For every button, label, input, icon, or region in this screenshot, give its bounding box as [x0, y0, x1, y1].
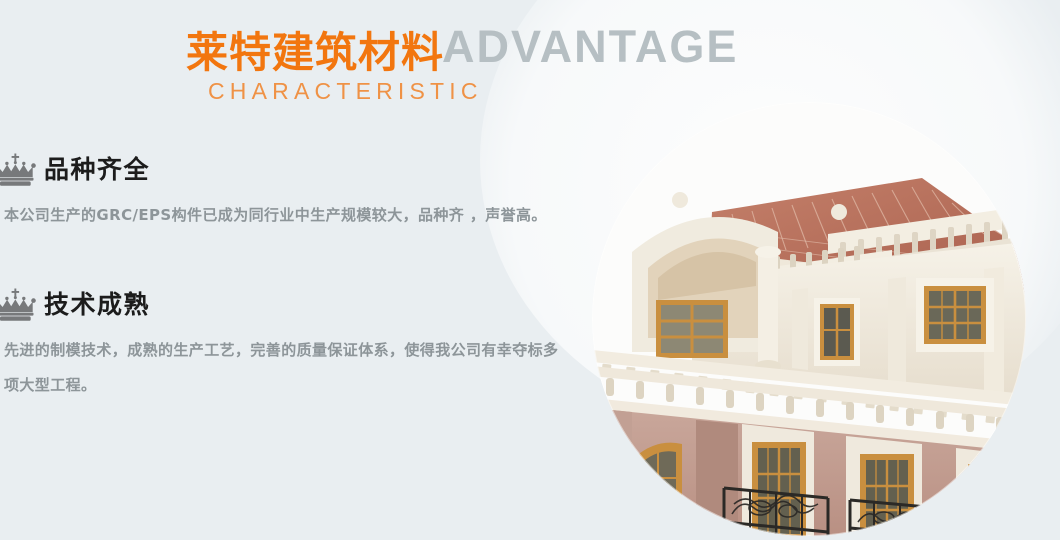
title-en-wrap: ADVANTAGE [442, 22, 738, 72]
feature-list: 品种齐全 本公司生产的GRC/EPS构件已成为同行业中生产规模较大，品种齐 ，声… [0, 150, 560, 403]
advantage-banner: 莱特建筑材料 ADVANTAGE CHARACTERISTIC [0, 0, 1060, 540]
european-villa-facade-photo [592, 102, 1026, 536]
feature-description: 本公司生产的GRC/EPS构件已成为同行业中生产规模较大，品种齐 ，声誉高。 [0, 198, 560, 233]
feature-description: 先进的制模技术，成熟的生产工艺，完善的质量保证体系，使得我公司有幸夺标多项大型工… [0, 333, 560, 403]
feature-heading: 技术成熟 [0, 285, 560, 325]
feature-title: 品种齐全 [44, 153, 150, 187]
feature-title: 技术成熟 [44, 288, 150, 322]
page-title-chinese: 莱特建筑材料 [186, 28, 444, 78]
page-header: 莱特建筑材料 ADVANTAGE CHARACTERISTIC [186, 28, 738, 114]
feature-heading: 品种齐全 [0, 150, 560, 190]
title-row: 莱特建筑材料 ADVANTAGE [186, 28, 738, 78]
feature-item: 品种齐全 本公司生产的GRC/EPS构件已成为同行业中生产规模较大，品种齐 ，声… [0, 150, 560, 233]
crown-icon [0, 153, 38, 187]
page-title-english: ADVANTAGE [442, 22, 738, 72]
villa-illustration [592, 102, 1026, 536]
page-subtitle-english: CHARACTERISTIC [208, 76, 738, 106]
crown-icon [0, 288, 38, 322]
feature-item: 技术成熟 先进的制模技术，成熟的生产工艺，完善的质量保证体系，使得我公司有幸夺标… [0, 285, 560, 403]
